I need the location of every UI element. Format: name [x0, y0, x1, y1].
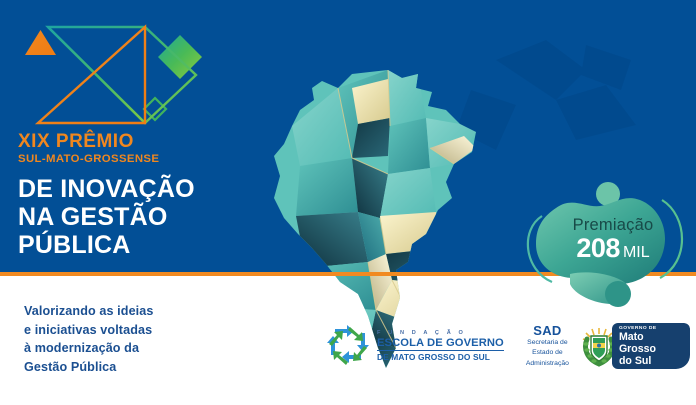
headline-subtitle: SUL-MATO-GROSSENSE — [18, 153, 238, 166]
sad-abbreviation: SAD — [526, 324, 569, 337]
prize-label: Premiação — [553, 216, 673, 234]
prize-amount: 208MIL — [548, 233, 678, 264]
tagline-block: Valorizando as ideias e iniciativas volt… — [24, 302, 254, 376]
circular-arrows-icon — [325, 323, 371, 369]
escola-name-line-2: DE MATO GROSSO DO SUL — [377, 352, 504, 363]
governo-ms-panel: GOVERNO DE Mato Grosso do Sul — [612, 323, 690, 369]
sad-logo: SAD Secretaria de Estado de Administraçã… — [526, 324, 569, 369]
headline-main-line-2: NA GESTÃO — [18, 203, 238, 231]
escola-de-governo-logo: F U N D A Ç Ã O ESCOLA DE GOVERNO DE MAT… — [325, 323, 504, 369]
sad-description-line-2: Estado de — [526, 349, 569, 358]
orange-triangle-icon — [25, 30, 56, 55]
tagline-line-1: Valorizando as ideias — [24, 302, 254, 321]
headline-block: XIX PRÊMIO SUL-MATO-GROSSENSE DE INOVAÇÃ… — [18, 132, 238, 259]
headline-main-line-1: DE INOVAÇÃO — [18, 175, 238, 203]
governo-prefix: GOVERNO DE — [619, 326, 690, 331]
small-diamond-outline-icon — [144, 98, 166, 120]
sad-description-line-3: Administração — [526, 360, 569, 369]
tagline-line-2: e iniciativas voltadas — [24, 321, 254, 340]
award-geometric-logo — [12, 22, 227, 134]
green-diamond-icon — [158, 35, 202, 79]
tagline-line-4: Gestão Pública — [24, 358, 254, 377]
headline-kicker: XIX PRÊMIO — [18, 132, 238, 152]
governo-ms-logo: GOVERNO DE Mato Grosso do Sul — [576, 323, 690, 369]
escola-fundacao-label: F U N D A Ç Ã O — [377, 330, 504, 336]
tagline-line-3: à modernização da — [24, 339, 254, 358]
prize-amount-unit: MIL — [623, 244, 650, 261]
prize-amount-number: 208 — [576, 233, 620, 263]
partner-logo-row: F U N D A Ç Ã O ESCOLA DE GOVERNO DE MAT… — [325, 315, 690, 377]
governo-name-line-1: Mato — [619, 332, 690, 343]
blob-accent-circle-bottom — [605, 281, 631, 307]
governo-name-line-3: do Sul — [619, 356, 690, 367]
promo-banner: XIX PRÊMIO SUL-MATO-GROSSENSE DE INOVAÇÃ… — [0, 0, 696, 405]
headline-main-line-3: PÚBLICA — [18, 231, 238, 259]
sad-description-line-1: Secretaria de — [526, 339, 569, 348]
governo-name-line-2: Grosso — [619, 344, 690, 355]
escola-name-line-1: ESCOLA DE GOVERNO — [377, 337, 504, 351]
